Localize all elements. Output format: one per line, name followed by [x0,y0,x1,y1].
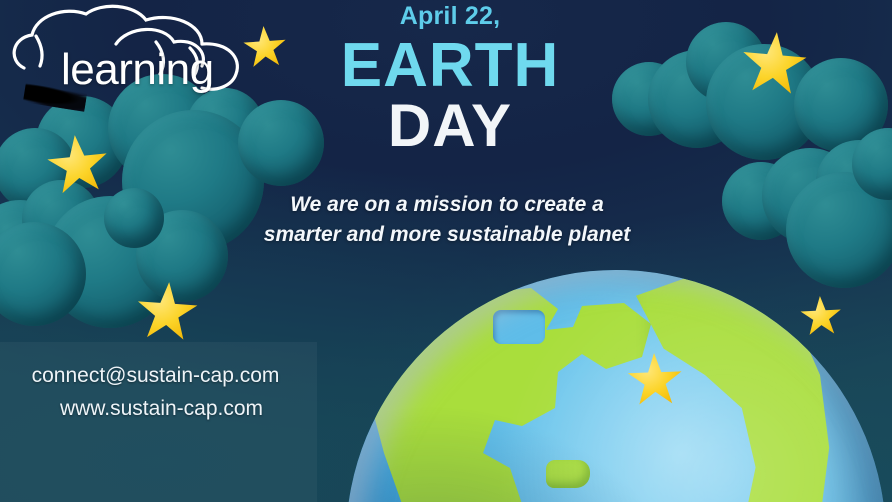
logo-wordmark: learning [61,48,214,92]
title-earth: EARTH [260,33,640,98]
contact-website[interactable]: www.sustain-cap.com [0,393,317,426]
tagline-line-2: smarter and more sustainable planet [212,220,682,250]
tagline: We are on a mission to create a smarter … [212,190,682,250]
star-upper-left-icon [44,132,112,200]
star-on-globe-icon [626,352,684,410]
event-date: April 22, [260,2,640,31]
headline-block: April 22, EARTH DAY [260,2,640,156]
tagline-line-1: We are on a mission to create a [212,190,682,220]
contact-panel: connect@sustain-cap.com www.sustain-cap.… [0,342,317,502]
star-top-right-icon [738,29,810,101]
learning-logo[interactable]: learning [6,2,256,112]
star-right-small-icon [799,295,843,339]
star-left-lower-icon [134,280,200,346]
title-day: DAY [260,96,640,156]
contact-email[interactable]: connect@sustain-cap.com [0,360,317,393]
earth-day-poster: learning April 22, EARTH DAY We are on a… [0,0,892,502]
